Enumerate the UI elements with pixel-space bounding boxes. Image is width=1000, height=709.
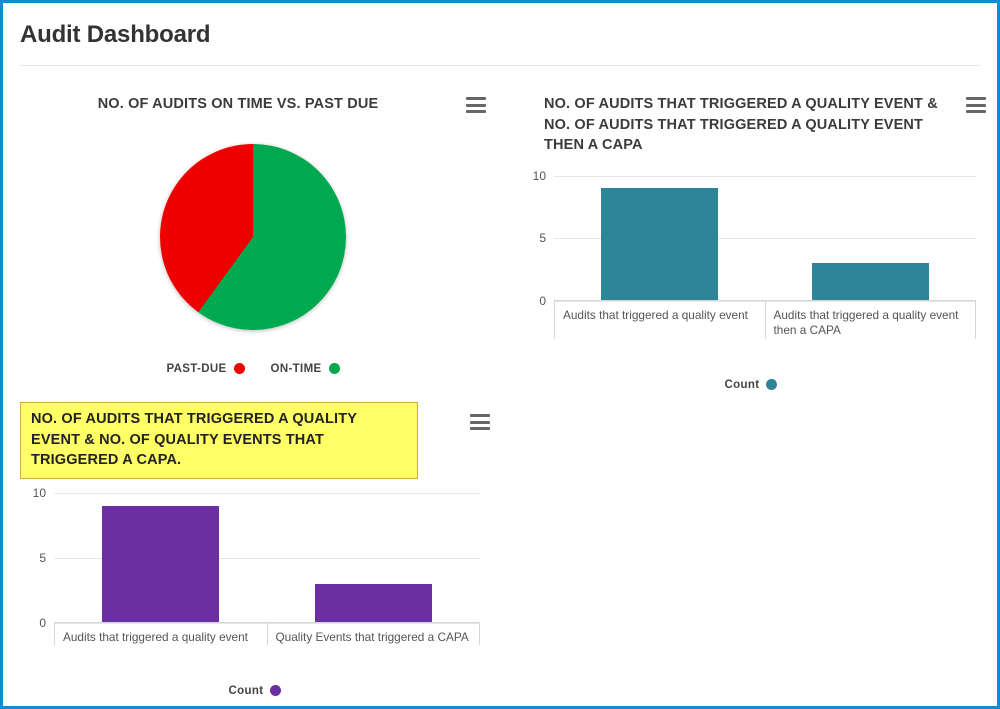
pie-chart-title: NO. OF AUDITS ON TIME VS. PAST DUE [20,94,448,115]
legend-label: PAST-DUE [166,363,226,375]
purple-legend: Count [20,685,490,697]
teal-legend: Count [516,379,986,391]
bar-cell [765,176,976,301]
dashboard-window: Audit Dashboard NO. OF AUDITS ON TIME VS… [0,0,1000,709]
x-axis-category-label: Audits that triggered a quality event [554,301,765,339]
legend-item-past-due[interactable]: PAST-DUE [166,363,244,375]
purple-panel-header: NO. OF AUDITS THAT TRIGGERED A QUALITY E… [20,402,490,479]
teal-chart-title: NO. OF AUDITS THAT TRIGGERED A QUALITY E… [516,94,944,156]
bar-cell [267,493,480,623]
legend-color-dot [766,379,777,390]
x-axis-category-label: Quality Events that triggered a CAPA [267,623,481,646]
y-axis-tick-label: 10 [533,169,546,183]
y-axis-tick-label: 5 [39,551,46,565]
bar-cell [554,176,765,301]
page-title: Audit Dashboard [3,3,997,49]
bar[interactable] [315,584,432,623]
purple-bar-chart-panel: NO. OF AUDITS THAT TRIGGERED A QUALITY E… [20,402,490,702]
x-axis-category-label: Audits that triggered a quality event th… [765,301,977,339]
hamburger-menu-icon[interactable] [466,97,486,113]
y-axis-tick-label: 5 [539,231,546,245]
bar[interactable] [601,188,717,301]
teal-bar-chart-panel: NO. OF AUDITS THAT TRIGGERED A QUALITY E… [516,94,986,394]
x-axis-category-label: Audits that triggered a quality event [54,623,267,646]
y-axis-tick-label: 0 [539,294,546,308]
legend-label: Count [725,379,760,391]
y-axis-tick-label: 10 [33,486,46,500]
teal-panel-header: NO. OF AUDITS THAT TRIGGERED A QUALITY E… [516,94,986,156]
pie-legend: PAST-DUE ON-TIME [20,363,486,375]
legend-label: Count [229,685,264,697]
pie-panel-header: NO. OF AUDITS ON TIME VS. PAST DUE [20,94,486,115]
bar-cell [54,493,267,623]
legend-label: ON-TIME [271,363,322,375]
pie-chart-plot [20,131,486,343]
legend-item-count[interactable]: Count [725,379,778,391]
pie-shape[interactable] [160,144,346,330]
purple-chart-title: NO. OF AUDITS THAT TRIGGERED A QUALITY E… [20,402,418,479]
legend-color-dot [270,685,281,696]
hamburger-menu-icon[interactable] [470,414,490,430]
legend-color-dot [329,363,340,374]
bar[interactable] [812,263,928,301]
teal-chart-plot: 0510 Audits that triggered a quality eve… [554,176,976,301]
y-axis-tick-label: 0 [39,616,46,630]
legend-item-count[interactable]: Count [229,685,282,697]
charts-grid: NO. OF AUDITS ON TIME VS. PAST DUE PAST-… [3,66,997,686]
legend-color-dot [234,363,245,374]
bar[interactable] [102,506,219,623]
hamburger-menu-icon[interactable] [966,97,986,113]
pie-chart-panel: NO. OF AUDITS ON TIME VS. PAST DUE PAST-… [20,94,486,394]
legend-item-on-time[interactable]: ON-TIME [271,363,340,375]
purple-chart-plot: 0510 Audits that triggered a quality eve… [54,493,480,623]
